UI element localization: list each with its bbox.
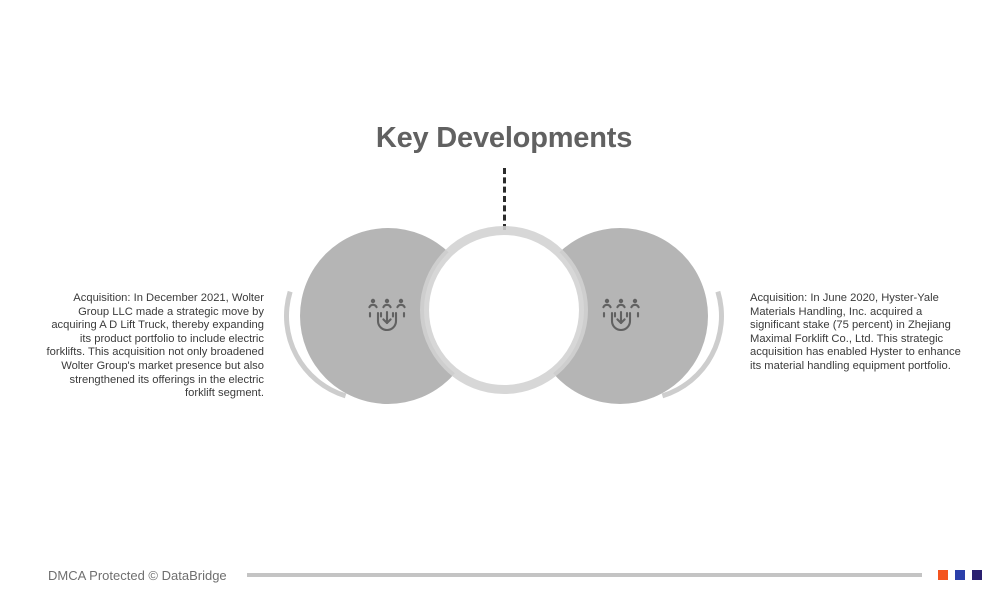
left-description-text: Acquisition: In December 2021, Wolter Gr… (40, 292, 264, 401)
group-acquisition-icon (364, 294, 410, 338)
dashed-connector (503, 168, 506, 230)
swatch-navy (972, 570, 982, 580)
swatch-blue (955, 570, 965, 580)
footer: DMCA Protected © DataBridge (0, 550, 1008, 600)
center-hub-ring (420, 226, 588, 394)
key-developments-diagram (288, 228, 720, 404)
footer-swatch-group (938, 570, 982, 580)
group-acquisition-icon (598, 294, 644, 338)
right-description-text: Acquisition: In June 2020, Hyster-Yale M… (750, 292, 974, 374)
page-title: Key Developments (0, 122, 1008, 155)
swatch-orange (938, 570, 948, 580)
footer-divider-rule (247, 573, 922, 577)
footer-copyright-label: DMCA Protected © DataBridge (48, 568, 227, 583)
